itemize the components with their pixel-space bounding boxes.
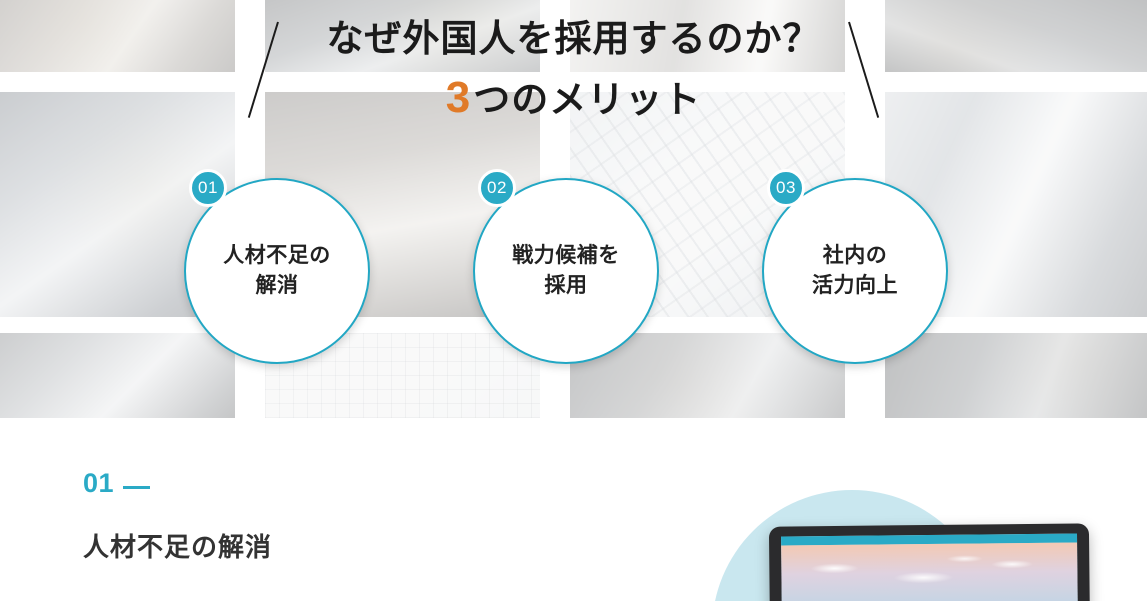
benefit-circle-2-label-line1: 戦力候補を — [512, 241, 620, 271]
banner-title-number: 3 — [446, 73, 471, 122]
benefit-circle-1-label-line2: 解消 — [223, 271, 331, 301]
benefit-circle-3-label-line1: 社内の — [812, 241, 898, 271]
benefit-circle-2-label-line2: 採用 — [512, 271, 620, 301]
device-illustration: グローバルな — [700, 468, 1147, 601]
screen-clouds — [781, 547, 1077, 596]
benefit-circle-1[interactable]: 人材不足の 解消 01 — [184, 178, 370, 364]
benefit-circle-1-label: 人材不足の 解消 — [223, 241, 331, 302]
benefit-circle-2-badge: 02 — [478, 169, 516, 207]
hero-banner: なぜ外国人を採用するのか？ 3つのメリット 人材不足の 解消 01 戦力候補を … — [0, 0, 1147, 418]
benefit-circle-3[interactable]: 社内の 活力向上 03 — [762, 178, 948, 364]
benefit-circle-3-label: 社内の 活力向上 — [812, 241, 898, 302]
section-heading: 人材不足の解消 — [83, 527, 272, 564]
section-number: 01 — [83, 468, 114, 499]
banner-title-line1: なぜ外国人を採用するのか？ — [0, 14, 1147, 64]
section-01: 01 人材不足の解消 — [83, 468, 272, 564]
laptop-mockup: グローバルな — [769, 523, 1091, 601]
benefit-circle-2[interactable]: 戦力候補を 採用 02 — [473, 178, 659, 364]
banner-title: なぜ外国人を採用するのか？ 3つのメリット — [0, 14, 1147, 127]
benefit-circle-1-label-line1: 人材不足の — [223, 241, 331, 271]
banner-title-line2: 3つのメリット — [0, 68, 1147, 127]
benefit-circle-2-label: 戦力候補を 採用 — [512, 241, 620, 302]
benefit-circle-3-label-line2: 活力向上 — [812, 271, 898, 301]
section-underline-dash — [123, 486, 150, 489]
benefit-circle-3-badge: 03 — [767, 169, 805, 207]
laptop-screen: グローバルな — [781, 533, 1079, 601]
benefit-circle-1-badge: 01 — [189, 169, 227, 207]
section-number-row: 01 — [83, 468, 272, 499]
banner-title-line2-rest: つのメリット — [473, 79, 701, 120]
